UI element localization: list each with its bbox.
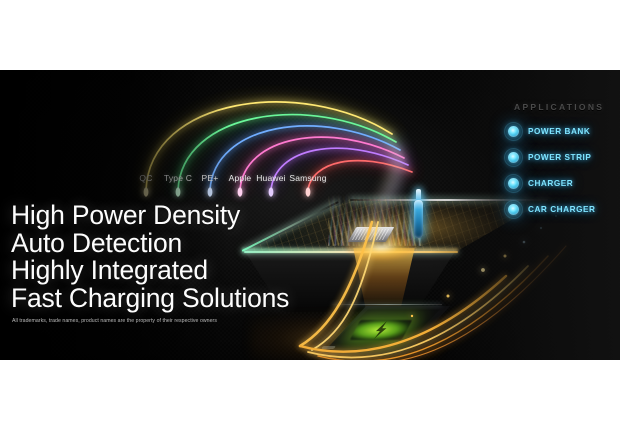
- page-root: QC Type C PE+ Apple Huawei Samsung: [0, 0, 620, 430]
- headline-line-1: High Power Density: [11, 202, 289, 230]
- application-label: POWER STRIP: [528, 153, 591, 162]
- application-item-charger[interactable]: CHARGER: [508, 175, 614, 191]
- applications-panel: APPLICATIONS POWER BANK POWER STRIP CHAR…: [508, 102, 614, 227]
- headline-line-2: Auto Detection: [11, 230, 289, 258]
- application-label: POWER BANK: [528, 127, 590, 136]
- bullet-dot-icon: [508, 178, 519, 189]
- application-item-car-charger[interactable]: CAR CHARGER: [508, 201, 614, 217]
- headline-line-3: Highly Integrated: [11, 257, 289, 285]
- promo-banner: QC Type C PE+ Apple Huawei Samsung: [0, 70, 620, 360]
- applications-title: APPLICATIONS: [514, 102, 614, 112]
- trademark-disclaimer: All trademarks, trade names, product nam…: [12, 318, 217, 324]
- application-item-power-strip[interactable]: POWER STRIP: [508, 149, 614, 165]
- streak-2: [312, 222, 378, 350]
- application-label: CAR CHARGER: [528, 205, 595, 214]
- bullet-dot-icon: [508, 126, 519, 137]
- bullet-dot-icon: [508, 204, 519, 215]
- bullet-dot-icon: [508, 152, 519, 163]
- application-label: CHARGER: [528, 179, 573, 188]
- headline-block: High Power Density Auto Detection Highly…: [11, 202, 289, 312]
- headline-line-4: Fast Charging Solutions: [11, 285, 289, 313]
- application-item-power-bank[interactable]: POWER BANK: [508, 123, 614, 139]
